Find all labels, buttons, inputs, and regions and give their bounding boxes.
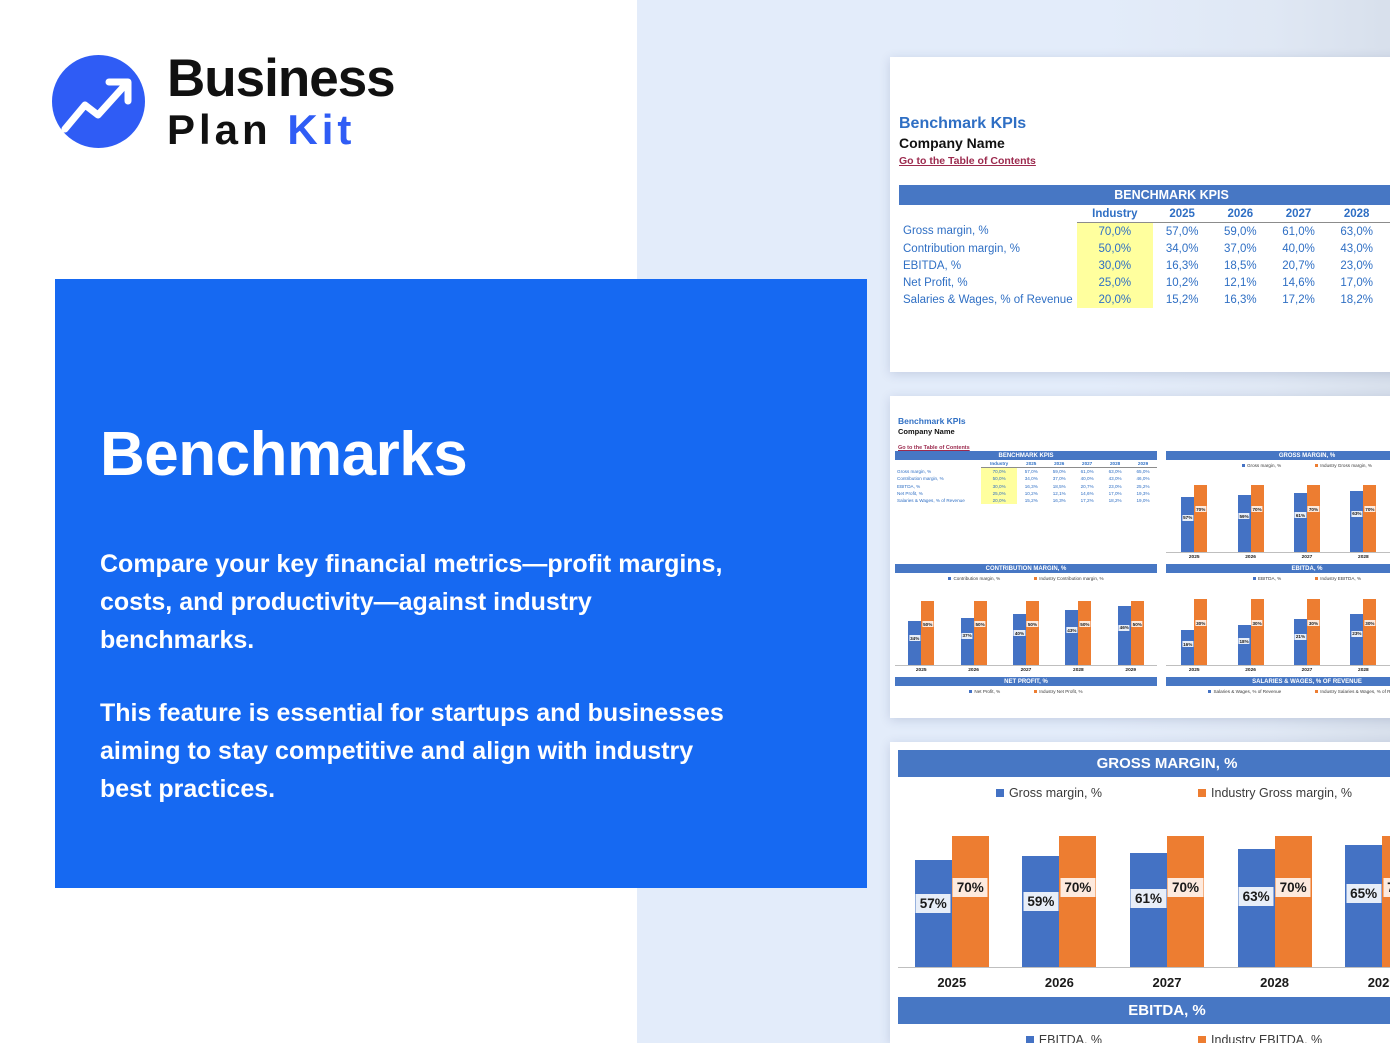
kpi-year-value: 10,2%: [1153, 274, 1211, 291]
bar-group: 46%50%: [1118, 588, 1144, 665]
kpi-industry-value: 30,0%: [981, 483, 1017, 490]
bar-company: 65%: [1345, 845, 1382, 967]
legend-item: Gross margin, %: [1242, 463, 1281, 468]
bar-group: 63%70%: [1238, 817, 1312, 967]
legend-label: Industry Contribution margin, %: [1039, 576, 1103, 581]
kpi-year-value: 57,0%: [1153, 223, 1211, 241]
chart-legend: Gross margin, %Industry Gross margin, %: [898, 786, 1390, 800]
legend-item: Net Profit, %: [969, 689, 1000, 694]
bar-value-label: 57%: [1182, 515, 1193, 521]
table-row: EBITDA, %30,0%16,3%18,5%20,7%23,0%25,2%: [899, 257, 1390, 274]
x-axis-tick-label: 2025: [937, 975, 966, 990]
bar-value-label: 70%: [1060, 878, 1095, 897]
chart-title: CONTRIBUTION MARGIN, %: [895, 564, 1157, 573]
mini-kpi-table-cell: BENCHMARK KPIS Industry20252026202720282…: [895, 451, 1157, 504]
kpi-year-value: 17,2%: [1269, 291, 1327, 308]
kpi-year-value: 16,3%: [1153, 257, 1211, 274]
bar-value-label: 59%: [1023, 892, 1058, 911]
page-title: Benchmarks: [100, 419, 467, 490]
bar-value-label: 57%: [916, 894, 951, 913]
kpi-industry-value: 25,0%: [1077, 274, 1153, 291]
kpi-year-value: 16,3%: [1045, 497, 1073, 504]
legend-swatch-icon: [1198, 1036, 1206, 1043]
chart-net-profit[interactable]: NET PROFIT, % Net Profit, %Industry Net …: [895, 677, 1157, 694]
x-axis-tick-label: 2027: [1302, 555, 1313, 560]
bar-industry: 30%: [1307, 599, 1320, 665]
legend-label: Net Profit, %: [974, 689, 1000, 694]
kpi-year-value: 40,0%: [1269, 240, 1327, 257]
kpi-year-value: 17,0%: [1101, 490, 1129, 497]
chart-title: EBITDA, %: [1166, 564, 1390, 573]
kpi-industry-value: 50,0%: [1077, 240, 1153, 257]
bar-group: 40%50%: [1013, 588, 1039, 665]
table-row: Contribution margin, %50,0%34,0%37,0%40,…: [899, 240, 1390, 257]
bar-value-label: 65%: [1346, 884, 1381, 903]
chart-legend: Net Profit, %Industry Net Profit, %: [895, 689, 1157, 694]
table-row: Salaries & Wages, % of Revenue20,0%15,2%…: [895, 497, 1157, 504]
legend-swatch-icon: [1208, 690, 1211, 693]
bar-value-label: 37%: [961, 633, 972, 639]
chart-ebitda-large[interactable]: EBITDA, % EBITDA, %Industry EBITDA, %: [898, 997, 1390, 1043]
kpi-year-value: 23,0%: [1101, 483, 1129, 490]
x-axis-tick-label: 2029: [1368, 975, 1390, 990]
bar-industry: 70%: [1194, 485, 1207, 552]
kpi-year-value: 15,2%: [1017, 497, 1045, 504]
bar-industry: 30%: [1363, 599, 1376, 665]
legend-label: Salaries & Wages, % of Revenue: [1213, 689, 1281, 694]
kpi-table-body: Industry20252026202720282029Gross margin…: [895, 460, 1157, 504]
bar-company: 46%: [1118, 606, 1131, 665]
legend-swatch-icon: [996, 789, 1004, 797]
kpi-year-value: 25,2%: [1386, 257, 1390, 274]
chart-plot-area: 57%70%59%70%61%70%63%70%65%70%: [1166, 475, 1390, 552]
kpi-year-value: 17,0%: [1328, 274, 1386, 291]
kpi-column-header: [899, 205, 1077, 223]
bar-value-label: 50%: [1079, 621, 1090, 627]
x-axis-tick-label: 2025: [1189, 668, 1200, 673]
trend-arrow-icon: [52, 55, 145, 148]
legend-label: Industry Salaries & Wages, % of Revenue: [1320, 689, 1390, 694]
bar-company: 59%: [1022, 856, 1059, 967]
brand-plan-text: Plan: [167, 106, 272, 153]
slide-canvas: Business Plan Kit Benchmarks Compare you…: [0, 0, 1390, 1043]
bar-value-label: 70%: [1276, 878, 1311, 897]
bar-group: 57%70%: [1181, 475, 1207, 552]
kpi-year-value: 43,0%: [1328, 240, 1386, 257]
legend-item: EBITDA, %: [1253, 576, 1281, 581]
bar-industry: 70%: [1363, 485, 1376, 552]
bar-value-label: 34%: [909, 635, 920, 641]
chart-legend: Gross margin, %Industry Gross margin, %: [1166, 463, 1390, 468]
bar-company: 37%: [961, 618, 974, 666]
kpi-year-value: 65,0%: [1386, 223, 1390, 241]
bar-industry: 30%: [1194, 599, 1207, 665]
bar-value-label: 18%: [1238, 638, 1249, 644]
bar-value-label: 70%: [1168, 878, 1203, 897]
kpi-year-value: 15,2%: [1153, 291, 1211, 308]
chart-legend: EBITDA, %Industry EBITDA, %: [1166, 576, 1390, 581]
bar-value-label: 70%: [1383, 878, 1390, 897]
table-row: Contribution margin, %50,0%34,0%37,0%40,…: [895, 475, 1157, 482]
bar-value-label: 30%: [1251, 620, 1262, 626]
bar-group: 63%70%: [1350, 475, 1376, 552]
bar-value-label: 23%: [1351, 631, 1362, 637]
kpi-industry-value: 50,0%: [981, 475, 1017, 482]
benchmark-dashboard-screenshot[interactable]: Benchmark KPIs Company Name Go to the Ta…: [890, 396, 1390, 718]
kpi-industry-value: 30,0%: [1077, 257, 1153, 274]
bar-group: 65%70%: [1345, 817, 1390, 967]
kpi-year-value: 18,5%: [1211, 257, 1269, 274]
kpi-column-header: 2029: [1386, 205, 1390, 223]
x-axis-tick-label: 2029: [1125, 668, 1136, 673]
kpi-year-value: 63,0%: [1328, 223, 1386, 241]
chart-x-axis: 20252026202720282029: [1166, 668, 1390, 673]
bar-value-label: 43%: [1066, 627, 1077, 633]
kpi-year-value: 10,2%: [1017, 490, 1045, 497]
chart-legend: Contribution margin, %Industry Contribut…: [895, 576, 1157, 581]
chart-title: GROSS MARGIN, %: [1166, 451, 1390, 460]
legend-swatch-icon: [1026, 1036, 1034, 1043]
kpi-industry-value: 70,0%: [1077, 223, 1153, 241]
bar-company: 21%: [1294, 619, 1307, 665]
bar-value-label: 30%: [1308, 620, 1319, 626]
x-axis-tick-label: 2027: [1153, 975, 1182, 990]
kpi-year-value: 19,3%: [1129, 490, 1157, 497]
legend-label: Industry Gross margin, %: [1211, 786, 1352, 800]
sheet-title: Benchmark KPIs: [899, 115, 1390, 133]
bar-group: 43%50%: [1065, 588, 1091, 665]
legend-swatch-icon: [1253, 577, 1256, 580]
bar-group: 34%50%: [908, 588, 934, 665]
legend-item: Industry EBITDA, %: [1198, 1033, 1322, 1043]
legend-swatch-icon: [1034, 577, 1037, 580]
kpi-year-value: 34,0%: [1153, 240, 1211, 257]
table-row: Net Profit, %25,0%10,2%12,1%14,6%17,0%19…: [899, 274, 1390, 291]
x-axis-tick-label: 2027: [1302, 668, 1313, 673]
table-of-contents-link[interactable]: Go to the Table of Contents: [899, 155, 1036, 167]
legend-item: Industry Salaries & Wages, % of Revenue: [1315, 689, 1390, 694]
bar-value-label: 40%: [1014, 630, 1025, 636]
kpi-row-label: Salaries & Wages, % of Revenue: [899, 291, 1077, 308]
legend-label: Industry EBITDA, %: [1211, 1033, 1322, 1043]
kpi-industry-value: 25,0%: [981, 490, 1017, 497]
legend-label: Gross margin, %: [1247, 463, 1281, 468]
kpi-industry-value: 70,0%: [981, 468, 1017, 476]
legend-item: EBITDA, %: [1026, 1033, 1102, 1043]
bar-industry: 50%: [1078, 601, 1091, 665]
kpi-column-header: 2026: [1211, 205, 1269, 223]
kpi-year-value: 59,0%: [1211, 223, 1269, 241]
kpi-year-value: 17,2%: [1073, 497, 1101, 504]
chart-salaries-wages[interactable]: SALARIES & WAGES, % OF REVENUE Salaries …: [1166, 677, 1390, 694]
bar-company: 23%: [1350, 614, 1363, 665]
gross-margin-chart-screenshot[interactable]: GROSS MARGIN, % Gross margin, %Industry …: [890, 742, 1390, 1043]
bar-industry: 70%: [1382, 836, 1390, 967]
bar-group: 18%30%: [1238, 588, 1264, 665]
kpi-year-value: 63,0%: [1101, 468, 1129, 476]
chart-axis-line: [895, 665, 1157, 666]
kpi-year-value: 19,0%: [1129, 497, 1157, 504]
bar-industry: 50%: [1026, 601, 1039, 665]
bar-company: 18%: [1238, 625, 1251, 665]
table-row: EBITDA, %30,0%16,3%18,5%20,7%23,0%25,2%: [895, 483, 1157, 490]
kpi-year-value: 18,5%: [1045, 483, 1073, 490]
bar-company: 59%: [1238, 495, 1251, 552]
bar-value-label: 50%: [1027, 621, 1038, 627]
bar-group: 23%30%: [1350, 588, 1376, 665]
bar-value-label: 16%: [1182, 641, 1193, 647]
bar-value-label: 70%: [953, 878, 988, 897]
bar-industry: 70%: [1307, 485, 1320, 552]
kpi-year-value: 37,0%: [1211, 240, 1269, 257]
chart-plot-area: 34%50%37%50%40%50%43%50%46%50%: [895, 588, 1157, 665]
kpi-year-value: 16,3%: [1017, 483, 1045, 490]
legend-swatch-icon: [1315, 577, 1318, 580]
bar-group: 59%70%: [1238, 475, 1264, 552]
legend-item: Industry Net Profit, %: [1034, 689, 1082, 694]
brand-name-line1: Business: [167, 52, 395, 105]
kpi-industry-value: 20,0%: [981, 497, 1017, 504]
legend-item: Industry EBITDA, %: [1315, 576, 1361, 581]
legend-label: Industry EBITDA, %: [1320, 576, 1361, 581]
kpi-row-label: Net Profit, %: [899, 274, 1077, 291]
kpi-table-band-title: BENCHMARK KPIS: [895, 451, 1157, 460]
kpi-year-value: 34,0%: [1017, 475, 1045, 482]
bar-company: 57%: [915, 860, 952, 967]
table-row: Gross margin, %70,0%57,0%59,0%61,0%63,0%…: [895, 468, 1157, 476]
kpi-year-value: 37,0%: [1045, 475, 1073, 482]
kpi-year-value: 18,2%: [1328, 291, 1386, 308]
bar-industry: 50%: [921, 601, 934, 665]
table-row: Gross margin, %70,0%57,0%59,0%61,0%63,0%…: [899, 223, 1390, 241]
table-row: Salaries & Wages, % of Revenue20,0%15,2%…: [899, 291, 1390, 308]
legend-label: Gross margin, %: [1009, 786, 1102, 800]
kpi-year-value: 12,1%: [1211, 274, 1269, 291]
x-axis-tick-label: 2027: [1021, 668, 1032, 673]
kpi-year-value: 23,0%: [1328, 257, 1386, 274]
kpi-column-header: 2025: [1017, 460, 1045, 468]
x-axis-tick-label: 2028: [1358, 668, 1369, 673]
bar-industry: 70%: [1251, 485, 1264, 552]
chart-legend: EBITDA, %Industry EBITDA, %: [898, 1033, 1390, 1043]
kpi-table: Industry20252026202720282029Gross margin…: [895, 460, 1157, 504]
legend-label: EBITDA, %: [1258, 576, 1281, 581]
bar-value-label: 70%: [1308, 506, 1319, 512]
legend-label: Contribution margin, %: [953, 576, 1000, 581]
brand-kit-text: Kit: [287, 106, 355, 153]
kpi-year-value: 59,0%: [1045, 468, 1073, 476]
chart-gross-margin-large[interactable]: GROSS MARGIN, % Gross margin, %Industry …: [898, 750, 1390, 990]
bar-company: 43%: [1065, 610, 1078, 665]
kpi-year-value: 14,6%: [1269, 274, 1327, 291]
legend-label: EBITDA, %: [1039, 1033, 1102, 1043]
kpi-column-header: 2029: [1129, 460, 1157, 468]
legend-item: Industry Gross margin, %: [1198, 786, 1352, 800]
legend-item: Salaries & Wages, % of Revenue: [1208, 689, 1281, 694]
hero-paragraph-2: This feature is essential for startups a…: [100, 694, 740, 808]
legend-item: Industry Gross margin, %: [1315, 463, 1372, 468]
bar-company: 16%: [1181, 630, 1194, 665]
kpi-year-value: 57,0%: [1017, 468, 1045, 476]
kpi-column-header: Industry: [1077, 205, 1153, 223]
chart-title: EBITDA, %: [898, 997, 1390, 1024]
table-row: Net Profit, %25,0%10,2%12,1%14,6%17,0%19…: [895, 490, 1157, 497]
kpi-row-label: Gross margin, %: [899, 223, 1077, 241]
x-axis-tick-label: 2026: [1045, 975, 1074, 990]
bar-group: 37%50%: [961, 588, 987, 665]
bar-industry: 30%: [1251, 599, 1264, 665]
legend-swatch-icon: [1034, 690, 1037, 693]
bar-value-label: 50%: [974, 621, 985, 627]
chart-axis-line: [898, 967, 1390, 968]
kpi-year-value: 61,0%: [1269, 223, 1327, 241]
kpi-year-value: 61,0%: [1073, 468, 1101, 476]
kpi-row-label: Contribution margin, %: [895, 475, 981, 482]
hero-panel: Benchmarks Compare your key financial me…: [55, 279, 867, 888]
kpi-table-band-title: BENCHMARK KPIS: [899, 185, 1390, 205]
legend-swatch-icon: [1198, 789, 1206, 797]
kpi-industry-value: 20,0%: [1077, 291, 1153, 308]
legend-item: Gross margin, %: [996, 786, 1102, 800]
bar-value-label: 70%: [1364, 506, 1375, 512]
kpi-column-header: 2028: [1328, 205, 1386, 223]
kpi-column-header: 2026: [1045, 460, 1073, 468]
kpi-column-header: 2028: [1101, 460, 1129, 468]
bar-company: 61%: [1294, 493, 1307, 552]
chart-ebitda[interactable]: EBITDA, % EBITDA, %Industry EBITDA, %16%…: [1166, 564, 1390, 673]
kpi-row-label: EBITDA, %: [895, 483, 981, 490]
kpi-row-label: Salaries & Wages, % of Revenue: [895, 497, 981, 504]
kpi-year-value: 19,0%: [1386, 291, 1390, 308]
kpi-row-label: Net Profit, %: [895, 490, 981, 497]
chart-gross-margin[interactable]: GROSS MARGIN, % Gross margin, %Industry …: [1166, 451, 1390, 560]
bar-value-label: 59%: [1238, 513, 1249, 519]
kpi-table-header-row: Industry20252026202720282029: [899, 205, 1390, 223]
x-axis-tick-label: 2026: [1245, 555, 1256, 560]
bar-value-label: 61%: [1295, 512, 1306, 518]
bar-industry: 70%: [1059, 836, 1096, 967]
kpi-year-value: 65,0%: [1129, 468, 1157, 476]
chart-title: SALARIES & WAGES, % OF REVENUE: [1166, 677, 1390, 686]
kpi-column-header: 2025: [1153, 205, 1211, 223]
kpi-year-value: 40,0%: [1073, 475, 1101, 482]
chart-axis-line: [1166, 552, 1390, 553]
sheet-title: Benchmark KPIs: [898, 416, 1390, 426]
bar-group: 61%70%: [1130, 817, 1204, 967]
kpi-row-label: Gross margin, %: [895, 468, 981, 476]
kpi-year-value: 14,6%: [1073, 490, 1101, 497]
kpi-table: Industry20252026202720282029Gross margin…: [899, 205, 1390, 308]
legend-swatch-icon: [1315, 464, 1318, 467]
bar-company: 61%: [1130, 853, 1167, 967]
hero-paragraph-1: Compare your key financial metrics—profi…: [100, 545, 740, 659]
legend-label: Industry Gross margin, %: [1320, 463, 1372, 468]
kpi-year-value: 43,0%: [1101, 475, 1129, 482]
bar-value-label: 50%: [922, 621, 933, 627]
legend-label: Industry Net Profit, %: [1039, 689, 1082, 694]
chart-title: NET PROFIT, %: [895, 677, 1157, 686]
chart-axis-line: [1166, 665, 1390, 666]
chart-plot-area: 16%30%18%30%21%30%23%30%25%30%: [1166, 588, 1390, 665]
kpi-year-value: 20,7%: [1073, 483, 1101, 490]
bar-industry: 50%: [974, 601, 987, 665]
bar-industry: 70%: [952, 836, 989, 967]
legend-swatch-icon: [1242, 464, 1245, 467]
bar-value-label: 70%: [1251, 506, 1262, 512]
kpi-year-value: 25,2%: [1129, 483, 1157, 490]
legend-item: Industry Contribution margin, %: [1034, 576, 1103, 581]
kpi-column-header: [895, 460, 981, 468]
bar-value-label: 63%: [1351, 511, 1362, 517]
bar-company: 63%: [1238, 849, 1275, 967]
bar-value-label: 50%: [1132, 621, 1143, 627]
bar-group: 16%30%: [1181, 588, 1207, 665]
bar-value-label: 63%: [1239, 887, 1274, 906]
kpi-column-header: 2027: [1073, 460, 1101, 468]
chart-x-axis: 20252026202720282029: [898, 975, 1390, 990]
chart-legend: Salaries & Wages, % of RevenueIndustry S…: [1166, 689, 1390, 694]
bar-value-label: 30%: [1364, 620, 1375, 626]
sheet-subtitle: Company Name: [898, 427, 1390, 436]
x-axis-tick-label: 2025: [1189, 555, 1200, 560]
chart-contribution-margin[interactable]: CONTRIBUTION MARGIN, % Contribution marg…: [895, 564, 1157, 673]
legend-item: Contribution margin, %: [948, 576, 1000, 581]
benchmark-kpis-table-screenshot[interactable]: Benchmark KPIs Company Name Go to the Ta…: [890, 57, 1390, 372]
x-axis-tick-label: 2028: [1073, 668, 1084, 673]
chart-plot-area: 57%70%59%70%61%70%63%70%65%70%: [898, 817, 1390, 967]
kpi-row-label: EBITDA, %: [899, 257, 1077, 274]
kpi-year-value: 16,3%: [1211, 291, 1269, 308]
kpi-year-value: 46,0%: [1386, 240, 1390, 257]
x-axis-tick-label: 2025: [916, 668, 927, 673]
bar-group: 61%70%: [1294, 475, 1320, 552]
bar-industry: 50%: [1131, 601, 1144, 665]
chart-title: GROSS MARGIN, %: [898, 750, 1390, 777]
brand-name-line2: Plan Kit: [167, 109, 395, 151]
kpi-table-body: Industry20252026202720282029Gross margin…: [899, 205, 1390, 308]
bar-value-label: 70%: [1195, 506, 1206, 512]
kpi-row-label: Contribution margin, %: [899, 240, 1077, 257]
bar-group: 59%70%: [1022, 817, 1096, 967]
legend-swatch-icon: [1315, 690, 1318, 693]
kpi-year-value: 12,1%: [1045, 490, 1073, 497]
kpi-year-value: 46,0%: [1129, 475, 1157, 482]
bar-value-label: 46%: [1119, 625, 1130, 631]
bar-company: 34%: [908, 621, 921, 665]
legend-swatch-icon: [969, 690, 972, 693]
kpi-column-header: Industry: [981, 460, 1017, 468]
bar-industry: 70%: [1275, 836, 1312, 967]
bar-value-label: 30%: [1195, 620, 1206, 626]
kpi-column-header: 2027: [1269, 205, 1327, 223]
brand-logo: Business Plan Kit: [52, 52, 395, 151]
kpi-year-value: 18,2%: [1101, 497, 1129, 504]
bar-industry: 70%: [1167, 836, 1204, 967]
x-axis-tick-label: 2028: [1260, 975, 1289, 990]
chart-x-axis: 20252026202720282029: [1166, 555, 1390, 560]
bar-group: 21%30%: [1294, 588, 1320, 665]
bar-company: 63%: [1350, 491, 1363, 552]
bar-value-label: 61%: [1131, 889, 1166, 908]
kpi-year-value: 20,7%: [1269, 257, 1327, 274]
x-axis-tick-label: 2028: [1358, 555, 1369, 560]
bar-company: 57%: [1181, 497, 1194, 552]
kpi-year-value: 19,3%: [1386, 274, 1390, 291]
kpi-table-header-row: Industry20252026202720282029: [895, 460, 1157, 468]
x-axis-tick-label: 2026: [1245, 668, 1256, 673]
bar-value-label: 21%: [1295, 634, 1306, 640]
bar-group: 57%70%: [915, 817, 989, 967]
